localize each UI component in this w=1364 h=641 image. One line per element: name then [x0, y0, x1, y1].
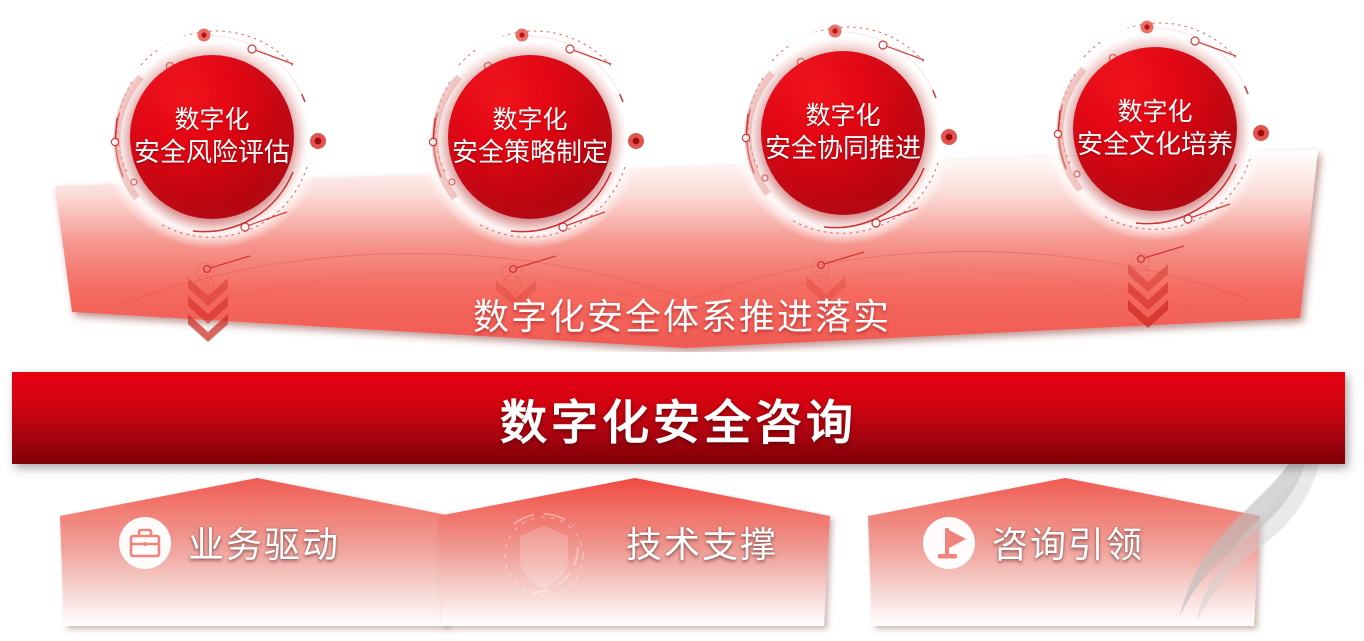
node-line1: 数字化 — [805, 100, 880, 132]
briefcase-icon — [116, 514, 174, 577]
node-line2: 安全风险评估 — [134, 136, 290, 169]
flag-icon — [920, 514, 978, 577]
card-business[interactable]: 业务驱动 — [48, 476, 466, 636]
main-banner-label: 数字化安全咨询 — [500, 384, 857, 453]
node-disc: 数字化 安全策略制定 — [448, 55, 612, 219]
node-line2: 安全文化培养 — [1077, 128, 1233, 161]
node-culture[interactable]: 数字化 安全文化培养 — [1040, 14, 1270, 244]
node-line2: 安全策略制定 — [452, 136, 608, 169]
node-synergy[interactable]: 数字化 安全协同推进 — [728, 18, 958, 248]
node-line1: 数字化 — [492, 104, 567, 136]
bottom-cards: 业务驱动 — [0, 476, 1364, 641]
node-risk[interactable]: 数字化 安全风险评估 — [97, 22, 327, 252]
main-banner[interactable]: 数字化安全咨询 — [12, 372, 1345, 464]
node-policy[interactable]: 数字化 安全策略制定 — [415, 22, 645, 252]
card-consult[interactable]: 咨询引领 — [856, 476, 1274, 636]
card-label: 咨询引领 — [992, 516, 1144, 568]
node-disc: 数字化 安全协同推进 — [761, 51, 925, 215]
node-line2: 安全协同推进 — [765, 132, 921, 165]
band-label: 数字化安全体系推进落实 — [0, 288, 1364, 340]
card-label: 业务驱动 — [188, 516, 340, 568]
node-disc: 数字化 安全文化培养 — [1073, 47, 1237, 211]
node-disc: 数字化 安全风险评估 — [130, 55, 294, 219]
card-label: 技术支撑 — [626, 516, 778, 568]
card-technical[interactable]: 技术支撑 — [426, 476, 844, 636]
node-line1: 数字化 — [174, 104, 249, 136]
infographic-stage: 数字化 安全风险评估 — [0, 0, 1364, 641]
node-line1: 数字化 — [1117, 96, 1192, 128]
